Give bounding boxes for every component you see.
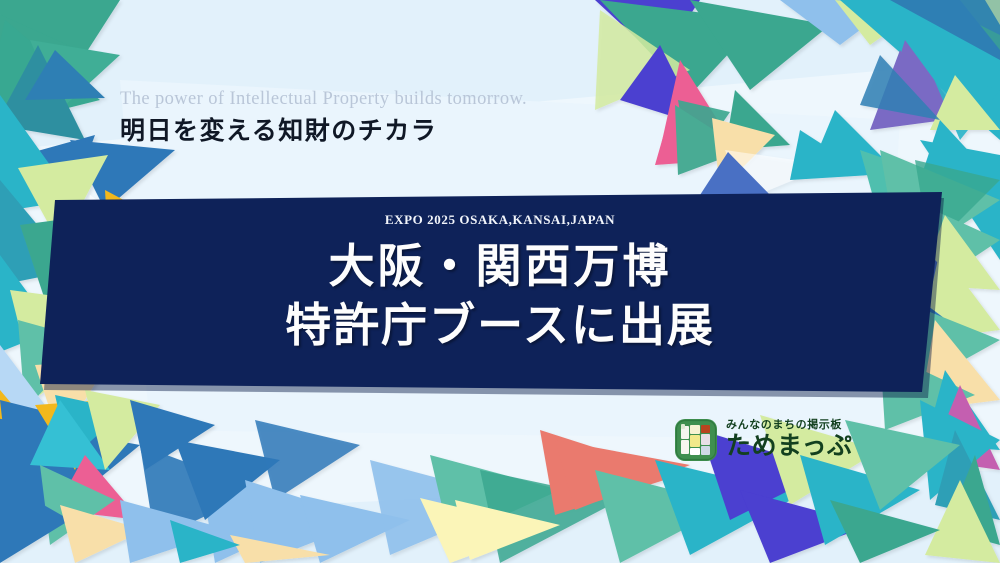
tagline-japanese: 明日を変える知財のチカラ — [120, 115, 680, 148]
logo-name: ためまっぷ — [726, 432, 853, 461]
tagline-english: The power of Intellectual Property build… — [120, 88, 680, 111]
tamemap-app-icon — [674, 418, 718, 462]
poster-canvas: The power of Intellectual Property build… — [0, 0, 1000, 563]
tagline-block: The power of Intellectual Property build… — [120, 88, 680, 148]
logo-text-group: みんなのまちの掲示板 ためまっぷ — [726, 419, 853, 461]
banner-shape — [0, 190, 1000, 405]
logo-subtitle: みんなのまちの掲示板 — [726, 419, 853, 431]
tamemap-logo-lockup[interactable]: みんなのまちの掲示板 ためまっぷ — [674, 418, 853, 462]
headline-banner: EXPO 2025 OSAKA,KANSAI,JAPAN 大阪・関西万博 特許庁… — [0, 190, 1000, 405]
